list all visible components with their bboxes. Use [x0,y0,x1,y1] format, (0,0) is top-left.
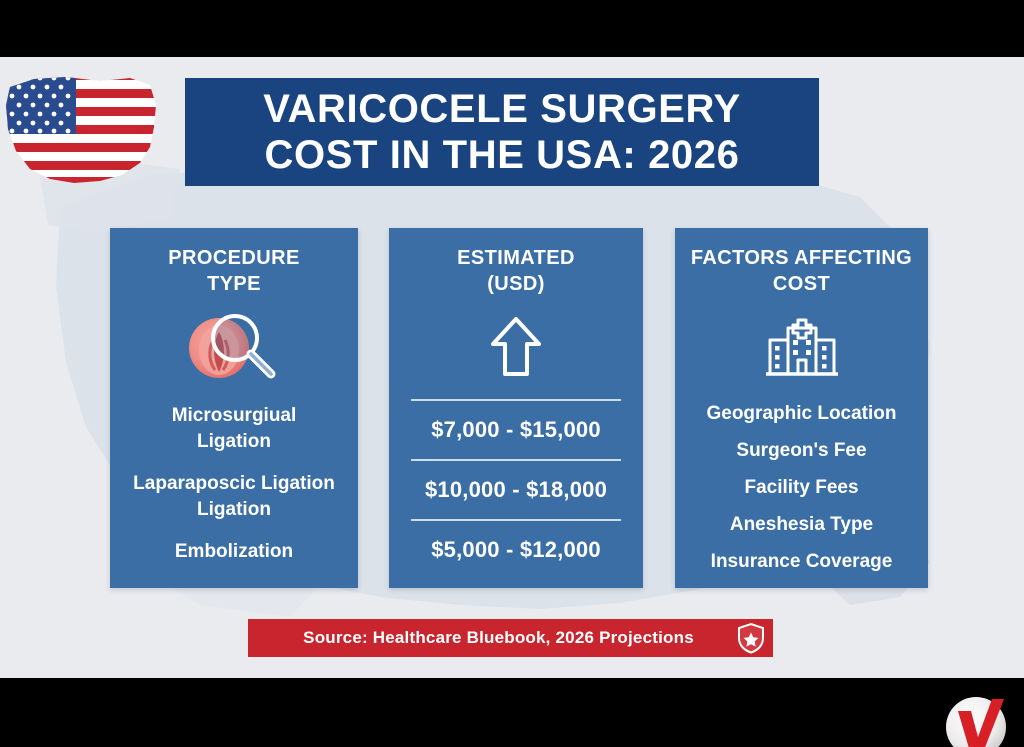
up-arrow-icon [488,309,544,385]
screenshot-stage: VARICOCELE SURGERY COST IN THE USA: 2026… [0,0,1024,747]
price-row: $7,000 - $15,000 [389,401,643,459]
divider [411,459,621,461]
price-list: $7,000 - $15,000 $10,000 - $18,000 $5,00… [389,399,643,579]
price-row: $10,000 - $18,000 [389,461,643,519]
page-title: VARICOCELE SURGERY COST IN THE USA: 2026 [185,78,819,186]
divider [411,399,621,401]
panel-procedure-title: PROCEDURE TYPE [110,245,358,297]
source-text: Source: Healthcare Bluebook, 2026 Projec… [248,628,729,648]
usa-flag-map-icon [4,71,164,189]
letterbox-top [0,0,1024,57]
panel-factors-title: FACTORS AFFECTING COST [675,245,928,297]
letterbox-bottom [0,678,1024,747]
price-row: $5,000 - $12,000 [389,521,643,579]
panel-estimated-body: $7,000 - $15,000 $10,000 - $18,000 $5,00… [389,385,643,588]
list-item: Laparaposcic Ligation Ligation [110,471,358,523]
list-item: Embolization [110,539,358,565]
list-item: Microsurgiual Ligation [110,403,358,455]
panel-procedure-type: PROCEDURE TYPE [110,228,358,588]
divider [411,519,621,521]
panel-estimated-title: ESTIMATED (USD) [389,245,643,297]
list-item: Facility Fees [675,475,928,501]
list-item: Insurance Coverage [675,549,928,575]
infographic-canvas: VARICOCELE SURGERY COST IN THE USA: 2026… [0,57,1024,678]
factors-list: Geographic Location Surgeon's Fee Facili… [675,401,928,586]
varicocele-magnifier-icon [179,309,289,385]
panel-procedure-body: Microsurgiual Ligation Laparaposcic Liga… [110,385,358,588]
list-item: Aneshesia Type [675,512,928,538]
panel-factors-affecting-cost: FACTORS AFFECTING COST [675,228,928,588]
hospital-icon [762,309,842,385]
v-checkmark-logo-icon[interactable] [938,689,1014,747]
source-banner: Source: Healthcare Bluebook, 2026 Projec… [248,619,773,657]
list-item: Geographic Location [675,401,928,427]
title-line-2: COST IN THE USA: 2026 [265,132,740,178]
shield-star-icon [729,622,773,654]
title-line-1: VARICOCELE SURGERY [263,86,741,132]
list-item: Surgeon's Fee [675,438,928,464]
panel-estimated-cost: ESTIMATED (USD) $7,000 - $15,000 $10,000… [389,228,643,588]
procedure-list: Microsurgiual Ligation Laparaposcic Liga… [110,403,358,581]
panel-factors-body: Geographic Location Surgeon's Fee Facili… [675,385,928,588]
